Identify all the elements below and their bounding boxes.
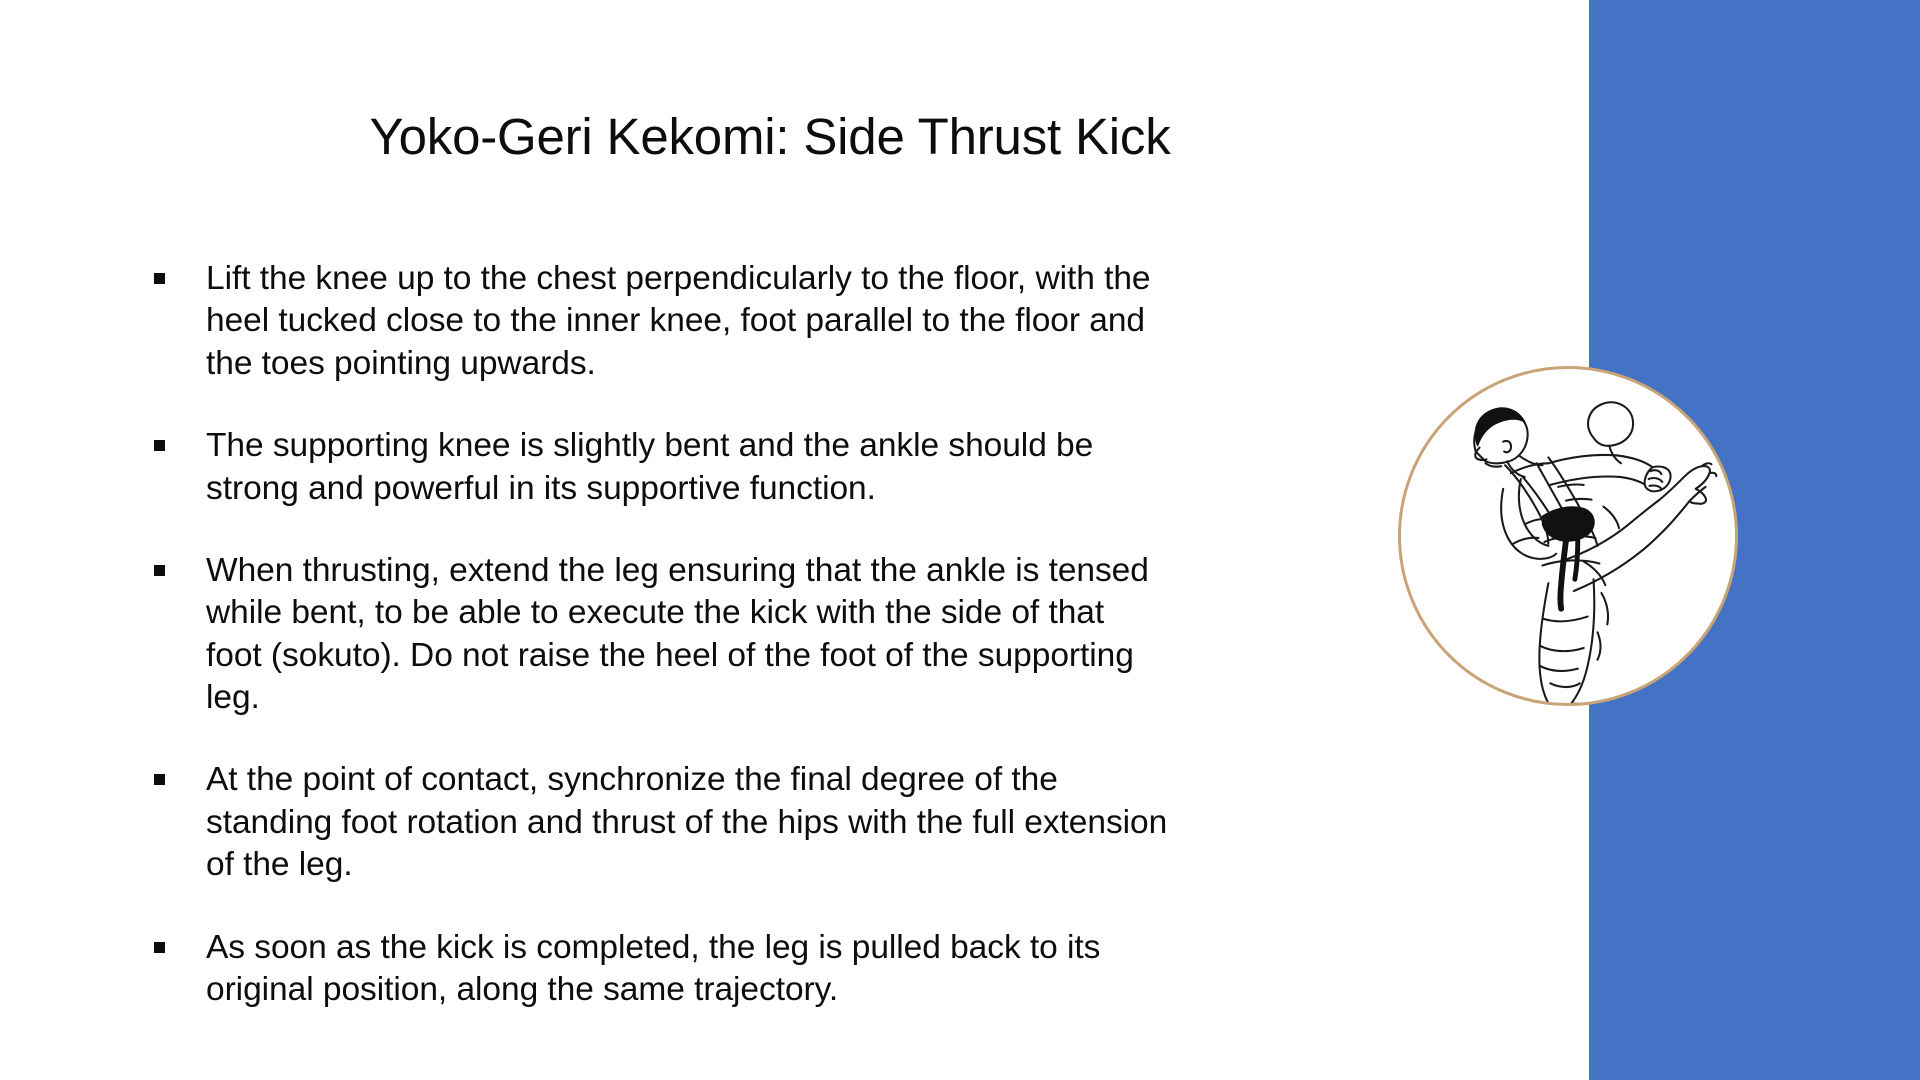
list-item: Lift the knee up to the chest perpendicu…	[140, 258, 1168, 385]
list-item: The supporting knee is slightly bent and…	[140, 425, 1168, 510]
page-title: Yoko-Geri Kekomi: Side Thrust Kick	[120, 108, 1420, 165]
square-bullet-icon	[154, 942, 165, 953]
bullet-list: Lift the knee up to the chest perpendicu…	[140, 258, 1168, 1011]
square-bullet-icon	[154, 565, 165, 576]
list-item: As soon as the kick is completed, the le…	[140, 927, 1168, 1012]
square-bullet-icon	[154, 774, 165, 785]
list-item-text: The supporting knee is slightly bent and…	[206, 425, 1168, 510]
list-item-text: At the point of contact, synchronize the…	[206, 759, 1168, 886]
karate-side-kick-drawing	[1401, 369, 1735, 703]
square-bullet-icon	[154, 273, 165, 284]
presentation-slide: Yoko-Geri Kekomi: Side Thrust Kick Lift …	[0, 0, 1920, 1080]
list-item-text: Lift the knee up to the chest perpendicu…	[206, 258, 1168, 385]
karate-side-kick-figure-icon	[1398, 366, 1738, 706]
list-item-text: As soon as the kick is completed, the le…	[206, 927, 1168, 1012]
list-item-text: When thrusting, extend the leg ensuring …	[206, 550, 1168, 720]
square-bullet-icon	[154, 440, 165, 451]
list-item: At the point of contact, synchronize the…	[140, 759, 1168, 886]
list-item: When thrusting, extend the leg ensuring …	[140, 550, 1168, 720]
